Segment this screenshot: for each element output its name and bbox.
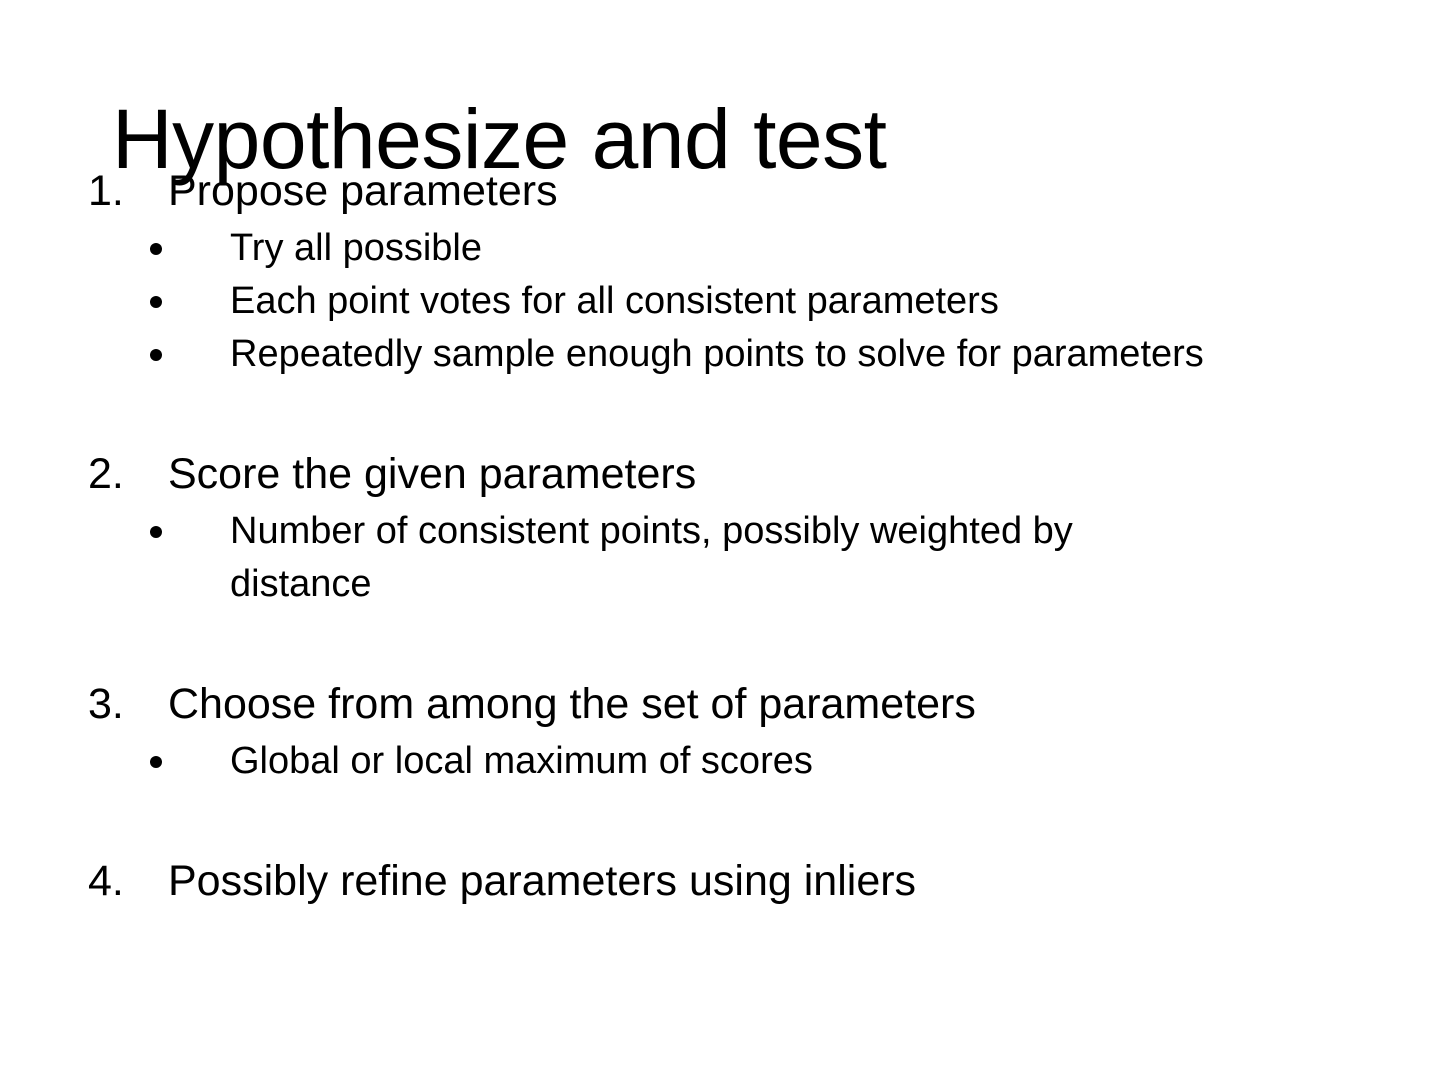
list-group: 3. Choose from among the set of paramete… (0, 673, 1440, 788)
bullet-icon (150, 243, 162, 255)
list-item-label: Each point votes for all consistent para… (230, 275, 1360, 328)
numbered-item-marker: 4. (88, 850, 158, 912)
bullet-icon (150, 296, 162, 308)
list-item: Number of consistent points, possibly we… (0, 505, 1440, 611)
bullet-icon (150, 526, 162, 538)
numbered-item: 2. Score the given parameters (0, 443, 1440, 505)
group-spacer (0, 611, 1440, 673)
list-item: Each point votes for all consistent para… (0, 275, 1440, 328)
list-item-label: Number of consistent points, possibly we… (230, 505, 1210, 611)
numbered-item-label: Choose from among the set of parameters (168, 673, 1440, 735)
numbered-item-marker: 1. (88, 160, 158, 222)
sub-bullet-list: Global or local maximum of scores (0, 735, 1440, 788)
bullet-icon (150, 756, 162, 768)
list-group: 4. Possibly refine parameters using inli… (0, 850, 1440, 912)
numbered-item-label: Possibly refine parameters using inliers (168, 850, 1440, 912)
list-item: Repeatedly sample enough points to solve… (0, 328, 1440, 381)
numbered-list: 1. Propose parameters Try all possible E… (0, 160, 1440, 912)
list-item-label: Repeatedly sample enough points to solve… (230, 328, 1360, 381)
numbered-item-marker: 3. (88, 673, 158, 735)
list-item: Global or local maximum of scores (0, 735, 1440, 788)
numbered-item-marker: 2. (88, 443, 158, 505)
group-spacer (0, 788, 1440, 850)
list-item-label: Try all possible (230, 222, 1360, 275)
numbered-item: 3. Choose from among the set of paramete… (0, 673, 1440, 735)
numbered-item-label: Propose parameters (168, 160, 1440, 222)
numbered-item: 4. Possibly refine parameters using inli… (0, 850, 1440, 912)
list-item-label: Global or local maximum of scores (230, 735, 1360, 788)
bullet-icon (150, 349, 162, 361)
sub-bullet-list: Number of consistent points, possibly we… (0, 505, 1440, 611)
slide: Hypothesize and test 1. Propose paramete… (0, 0, 1440, 1080)
list-group: 2. Score the given parameters Number of … (0, 443, 1440, 611)
list-group: 1. Propose parameters Try all possible E… (0, 160, 1440, 381)
list-item: Try all possible (0, 222, 1440, 275)
group-spacer (0, 381, 1440, 443)
sub-bullet-list: Try all possible Each point votes for al… (0, 222, 1440, 381)
numbered-item-label: Score the given parameters (168, 443, 1440, 505)
numbered-item: 1. Propose parameters (0, 160, 1440, 222)
